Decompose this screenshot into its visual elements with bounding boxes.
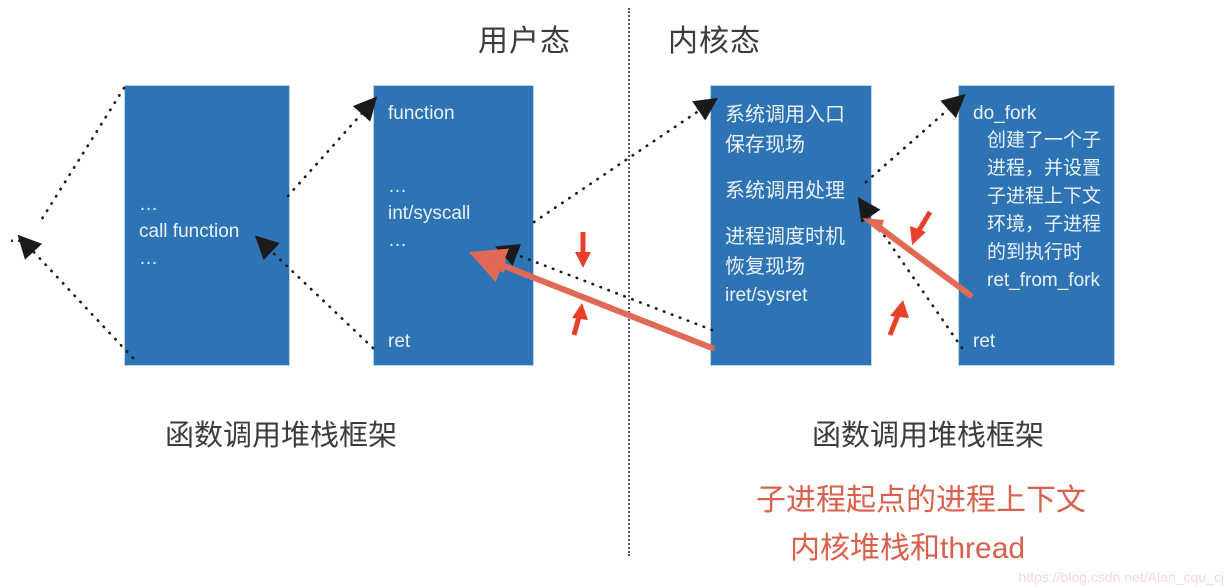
stack-line-schedule-point: 进程调度时机 <box>725 222 859 252</box>
red-arrow-down-kernel-gap <box>910 212 930 245</box>
dotted-arrow-syscall-return <box>512 253 712 330</box>
stack-line-syscall-handler: 系统调用处理 <box>725 176 859 206</box>
stack-line-ret: ret <box>388 331 410 353</box>
red-arrow-up-kernel-gap <box>890 300 909 335</box>
stack-line-restore-context: 恢复现场 <box>725 252 859 282</box>
caption-kernel-stack: 函数调用堆栈框架 <box>812 412 1044 454</box>
dotted-arrow-call-do-fork <box>866 106 952 182</box>
stack-line-ellipsis-bottom: … <box>139 245 239 272</box>
red-arrow-down-user-gap <box>575 232 591 268</box>
stack-box-kernel-dofork: do_fork 创建了一个子 进程，并设置 子进程上下文 环境，子进程 的到执行… <box>958 85 1115 366</box>
dotted-arrow-call-into-function <box>288 110 365 196</box>
stack-line-ellipsis-top: … <box>388 173 521 200</box>
kernel-mode-label: 内核态 <box>668 16 761 60</box>
dofork-desc-line-5: 的到执行时 <box>987 239 1102 267</box>
dotted-arrow-syscall-enter <box>534 108 703 222</box>
stack-line-int-syscall: int/syscall <box>388 200 521 227</box>
user-kernel-divider <box>628 8 630 556</box>
dofork-desc-line-2: 进程，并设置 <box>987 155 1102 183</box>
dotted-arrow-caller-in <box>40 88 124 222</box>
dofork-desc-line-3: 子进程上下文 <box>987 183 1102 211</box>
user-mode-label: 用户态 <box>478 16 571 60</box>
stack-line-ellipsis-top: … <box>139 191 239 218</box>
stack-line-do-fork: do_fork <box>973 100 1102 127</box>
stack-box-user-callee: function … int/syscall … ret <box>373 85 534 366</box>
stack-line-iret-sysret: iret/sysret <box>725 282 859 309</box>
stack-line-save-context: 保存现场 <box>725 130 859 160</box>
diagram-canvas: 用户态 内核态 … … call function … function … i… <box>0 0 1228 587</box>
red-arrow-dofork-to-syscall <box>862 218 970 295</box>
dofork-desc-line-1: 创建了一个子 <box>987 127 1102 155</box>
dofork-desc-line-4: 环境，子进程 <box>987 211 1102 239</box>
red-arrow-up-user-gap <box>572 303 588 335</box>
stack-line-call-function: call function <box>139 218 239 245</box>
red-caption-line-1: 子进程起点的进程上下文 <box>756 475 1086 519</box>
red-caption-line-2: 内核堆栈和thread <box>790 523 1025 567</box>
watermark: https://blog.csdn.net/Alan_cqu_cj <box>1019 569 1224 585</box>
stack-box-user-caller: … call function … <box>124 85 290 366</box>
left-ellipsis: … <box>8 222 35 248</box>
stack-line-ret: ret <box>973 331 995 353</box>
dotted-arrow-caller-out <box>30 248 133 358</box>
stack-line-syscall-entry: 系统调用入口 <box>725 100 859 130</box>
stack-line-ellipsis-bottom: … <box>388 227 521 254</box>
caption-user-stack: 函数调用堆栈框架 <box>165 412 397 454</box>
dotted-arrow-do-fork-return <box>868 212 962 348</box>
stack-box-kernel-syscall: 系统调用入口 保存现场 系统调用处理 进程调度时机 恢复现场 iret/sysr… <box>710 85 872 366</box>
stack-line-ret-from-fork: ret_from_fork <box>987 267 1102 295</box>
stack-line-function: function <box>388 100 521 127</box>
